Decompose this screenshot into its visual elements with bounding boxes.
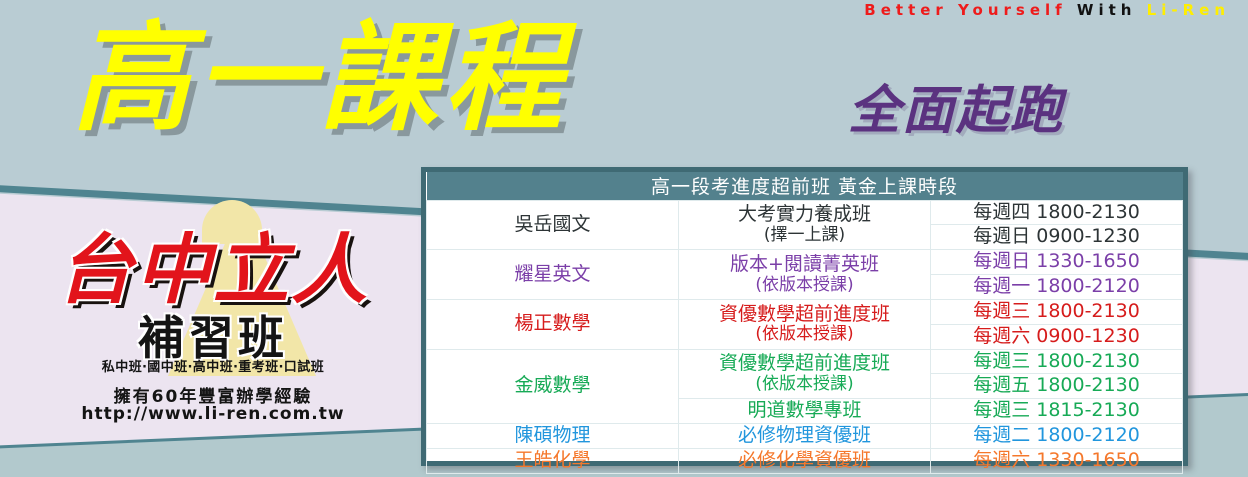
schedule-table-head: 高一段考進度超前班 黃金上課時段 [427, 172, 1183, 200]
cell-time: 每週三 1800-2130 [931, 349, 1183, 374]
cell-course-extra: 明道數學專班 [679, 399, 931, 424]
course-note: (擇一上課) [681, 226, 928, 246]
cell-time: 每週六 1330-1650 [931, 448, 1183, 473]
cell-time: 每週四 1800-2130 [931, 200, 1183, 225]
cell-time: 每週一 1800-2120 [931, 275, 1183, 300]
tagline-yellow-text: Li-Ren [1147, 1, 1230, 19]
schedule-table-body: 吳岳國文大考實力養成班(擇一上課)每週四 1800-2130每週日 0900-1… [427, 200, 1183, 473]
course-name: 大考實力養成班 [738, 203, 871, 225]
course-note: (依版本授課) [681, 276, 928, 296]
cell-course: 必修物理資優班 [679, 424, 931, 449]
course-note: (依版本授課) [681, 375, 928, 395]
cell-course: 資優數學超前進度班(依版本授課) [679, 349, 931, 399]
cell-teacher: 王皓化學 [427, 448, 679, 473]
course-name: 版本+閱讀菁英班 [730, 253, 879, 275]
table-row: 王皓化學必修化學資優班每週六 1330-1650 [427, 448, 1183, 473]
cell-time: 每週五 1800-2130 [931, 374, 1183, 399]
cell-teacher: 金威數學 [427, 349, 679, 424]
cell-time: 每週日 0900-1230 [931, 225, 1183, 250]
cell-teacher: 耀星英文 [427, 250, 679, 300]
cell-course: 大考實力養成班(擇一上課) [679, 200, 931, 250]
course-name: 資優數學超前進度班 [719, 303, 890, 325]
logo-class-tags: 私中班‧國中班‧高中班‧重考班‧口試班 [38, 356, 388, 375]
table-row: 吳岳國文大考實力養成班(擇一上課)每週四 1800-2130 [427, 200, 1183, 225]
cell-teacher: 陳碩物理 [427, 424, 679, 449]
hero-subtitle: 全面起跑 [848, 68, 1064, 143]
cell-time: 每週二 1800-2120 [931, 424, 1183, 449]
table-row: 陳碩物理必修物理資優班每週二 1800-2120 [427, 424, 1183, 449]
brand-logo: 台中立人 補習班 私中班‧國中班‧高中班‧重考班‧口試班 擁有60年豐富辦學經驗… [38, 196, 388, 421]
course-name: 必修物理資優班 [738, 424, 871, 446]
schedule-header-title: 高一段考進度超前班 黃金上課時段 [427, 172, 1183, 200]
cell-course: 版本+閱讀菁英班(依版本授課) [679, 250, 931, 300]
course-name: 資優數學超前進度班 [719, 352, 890, 374]
schedule-header-row: 高一段考進度超前班 黃金上課時段 [427, 172, 1183, 200]
logo-website-url[interactable]: http://www.li-ren.com.tw [38, 404, 388, 424]
table-row: 耀星英文版本+閱讀菁英班(依版本授課)每週日 1330-1650 [427, 250, 1183, 275]
course-note: (依版本授課) [681, 325, 928, 345]
tagline-red-text: Better Yourself [864, 1, 1077, 19]
cell-time: 每週三 1815-2130 [931, 399, 1183, 424]
cell-course: 必修化學資優班 [679, 448, 931, 473]
cell-course: 資優數學超前進度班(依版本授課) [679, 299, 931, 349]
course-name: 必修化學資優班 [738, 449, 871, 471]
tagline: Better Yourself With Li-Ren [864, 1, 1230, 19]
table-row: 金威數學資優數學超前進度班(依版本授課)每週三 1800-2130 [427, 349, 1183, 374]
tagline-black-text: With [1077, 1, 1147, 19]
schedule-table: 高一段考進度超前班 黃金上課時段 吳岳國文大考實力養成班(擇一上課)每週四 18… [426, 172, 1183, 474]
hero-title: 高一課程 [72, 16, 568, 140]
table-row: 楊正數學資優數學超前進度班(依版本授課)每週三 1800-2130 [427, 299, 1183, 324]
cell-time: 每週日 1330-1650 [931, 250, 1183, 275]
cell-time: 每週三 1800-2130 [931, 299, 1183, 324]
schedule-table-container: 高一段考進度超前班 黃金上課時段 吳岳國文大考實力養成班(擇一上課)每週四 18… [421, 167, 1188, 466]
cell-teacher: 楊正數學 [427, 299, 679, 349]
cell-time: 每週六 0900-1230 [931, 324, 1183, 349]
cell-teacher: 吳岳國文 [427, 200, 679, 250]
poster-canvas: Better Yourself With Li-Ren 高一課程 全面起跑 台中… [0, 0, 1248, 477]
